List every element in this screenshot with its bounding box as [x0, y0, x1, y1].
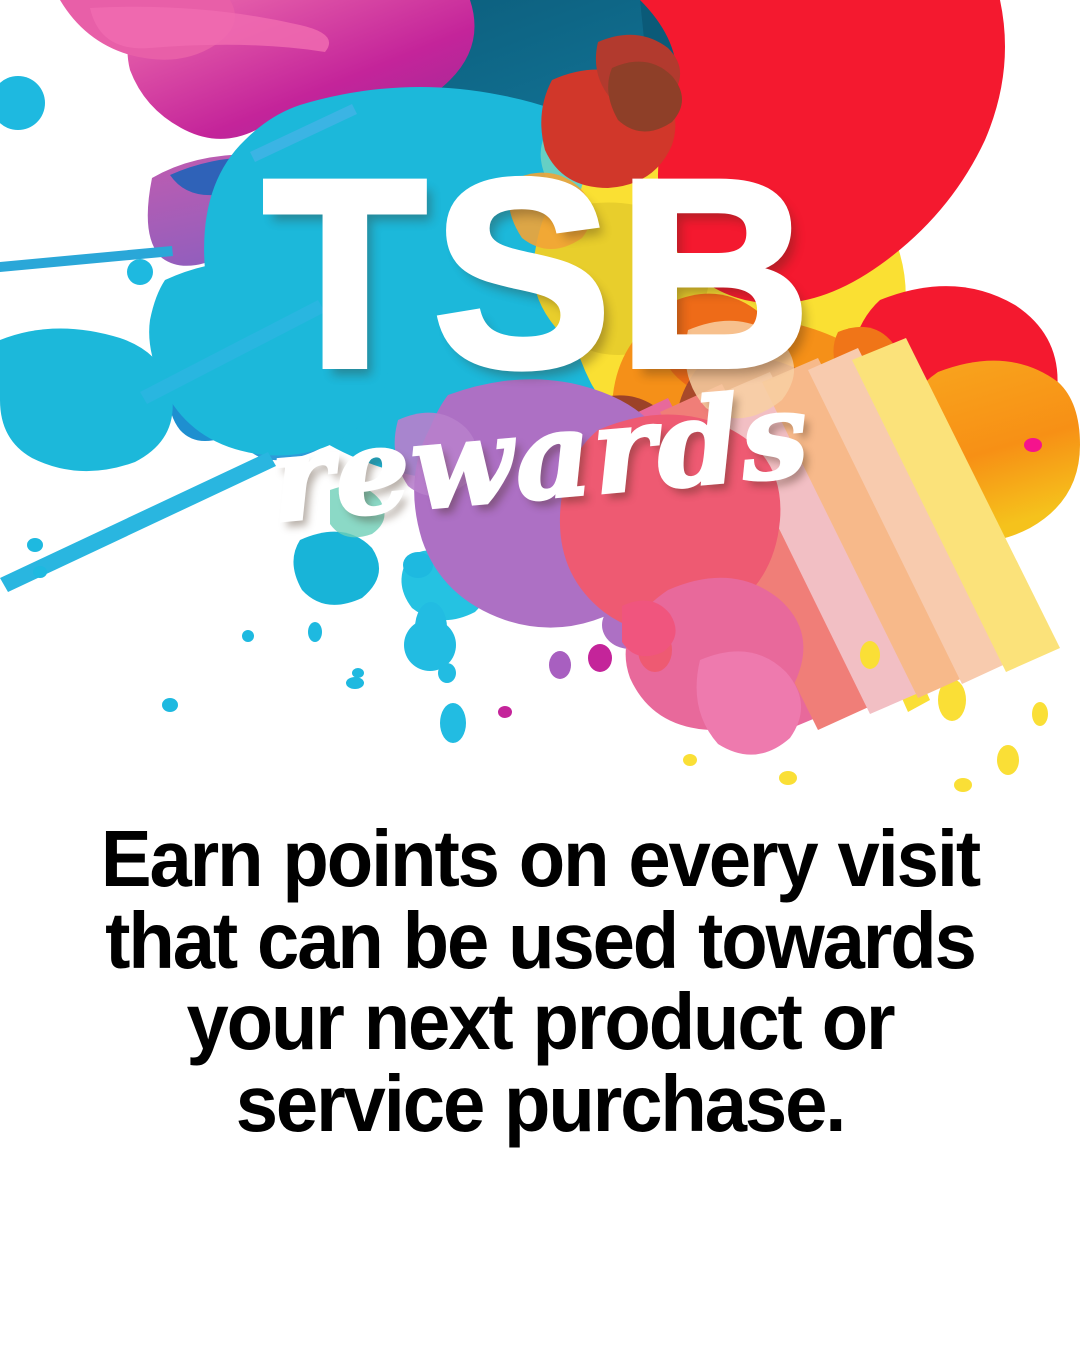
headline-text: Earn points on every visit that can be u…	[94, 818, 987, 1144]
poster-canvas: TSB rewards Earn points on every visit t…	[0, 0, 1080, 1350]
paint-splatter-artwork	[0, 0, 1080, 800]
